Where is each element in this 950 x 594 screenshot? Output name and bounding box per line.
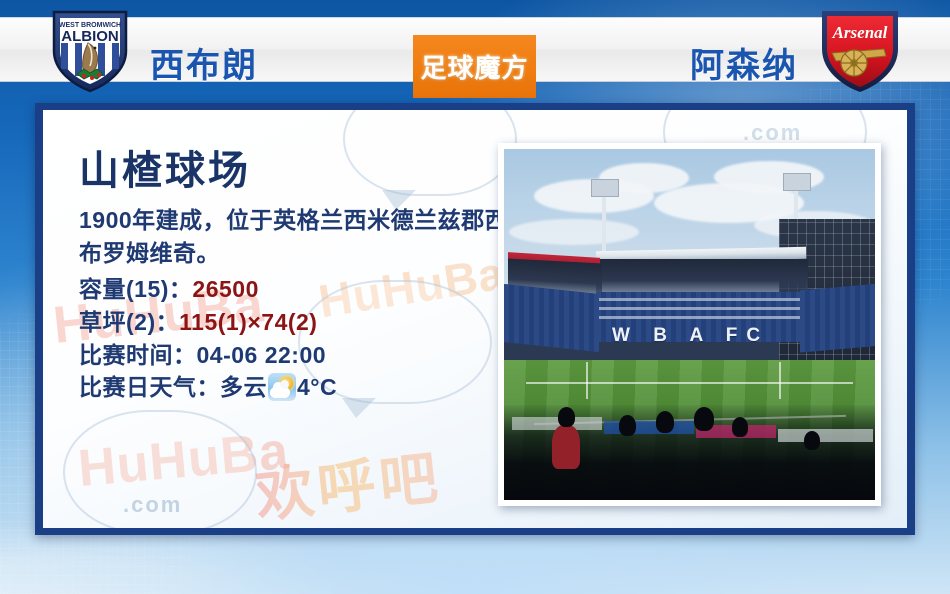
stand-lettering: W B A FC xyxy=(612,325,769,347)
stadium-photo: W B A FC xyxy=(504,149,875,500)
home-team-name: 西布朗 xyxy=(150,35,258,98)
site-logo-text: 足球魔方 xyxy=(420,48,528,85)
stadium-panel-frame: .com HuHuBa HuHuBa HuHuBa .com 欢呼吧 山楂球场 … xyxy=(35,103,915,535)
spectator-red-shirt xyxy=(552,425,580,469)
pitch-label: 草坪(2)： xyxy=(79,309,179,335)
weather-label: 比赛日天气： xyxy=(79,374,220,400)
spectator-head xyxy=(732,417,748,437)
advert-board xyxy=(604,421,694,434)
seating-block-right xyxy=(800,284,875,353)
site-logo[interactable]: 足球魔方 xyxy=(413,35,536,98)
spectator-head xyxy=(694,407,714,431)
stadium-title: 山楂球场 xyxy=(79,150,509,192)
seating-block-left xyxy=(504,284,599,352)
match-header-bar: 西布朗 足球魔方 阿森纳 xyxy=(0,17,950,82)
away-team-name: 阿森纳 xyxy=(690,35,798,98)
stadium-panel: .com HuHuBa HuHuBa HuHuBa .com 欢呼吧 山楂球场 … xyxy=(43,110,907,528)
cloud-shape xyxy=(509,219,639,245)
partly-cloudy-sun-icon xyxy=(268,373,296,401)
spectator-head xyxy=(804,431,820,450)
capacity-label: 容量(15)： xyxy=(79,276,192,302)
pitch-row: 草坪(2)：115(1)×74(2) xyxy=(79,306,509,339)
spectator-head xyxy=(558,407,575,427)
pitch-value: 115(1)×74(2) xyxy=(179,309,317,335)
advert-board xyxy=(778,429,873,442)
spectator-head xyxy=(656,411,674,433)
floodlight-left xyxy=(602,193,606,255)
arsenal-crest[interactable]: Arsenal xyxy=(814,3,906,95)
west-bromwich-albion-crest[interactable]: WEST BROMWICH ALBION xyxy=(44,3,136,95)
stadium-photo-frame[interactable]: W B A FC xyxy=(498,143,881,506)
crest-text-main: ALBION xyxy=(61,28,119,45)
match-time-row: 比赛时间：04-06 22:00 xyxy=(79,339,509,372)
weather-row: 比赛日天气：多云4°C xyxy=(79,371,509,404)
stadium-description: 1900年建成，位于英格兰西米德兰兹郡西布罗姆维奇。 xyxy=(79,204,509,269)
arsenal-wordmark: Arsenal xyxy=(832,23,888,42)
capacity-row: 容量(15)：26500 xyxy=(79,273,509,306)
weather-condition: 多云 xyxy=(220,374,267,400)
capacity-value: 26500 xyxy=(192,276,258,302)
match-time-value: 04-06 22:00 xyxy=(197,342,327,368)
watermark-cloud-bottomleft xyxy=(63,410,257,528)
match-time-label: 比赛时间： xyxy=(79,342,197,368)
watermark-huhuba-chinese: 欢呼吧 xyxy=(251,431,445,528)
stadium-info-block: 山楂球场 1900年建成，位于英格兰西米德兰兹郡西布罗姆维奇。 容量(15)：2… xyxy=(79,150,509,404)
spectator-head xyxy=(619,415,636,436)
temperature-value: 4°C xyxy=(297,374,337,400)
stand-upper-dark xyxy=(596,259,808,295)
stadium-info-card: 西布朗 足球魔方 阿森纳 WEST BROMWICH ALBION xyxy=(0,0,950,594)
